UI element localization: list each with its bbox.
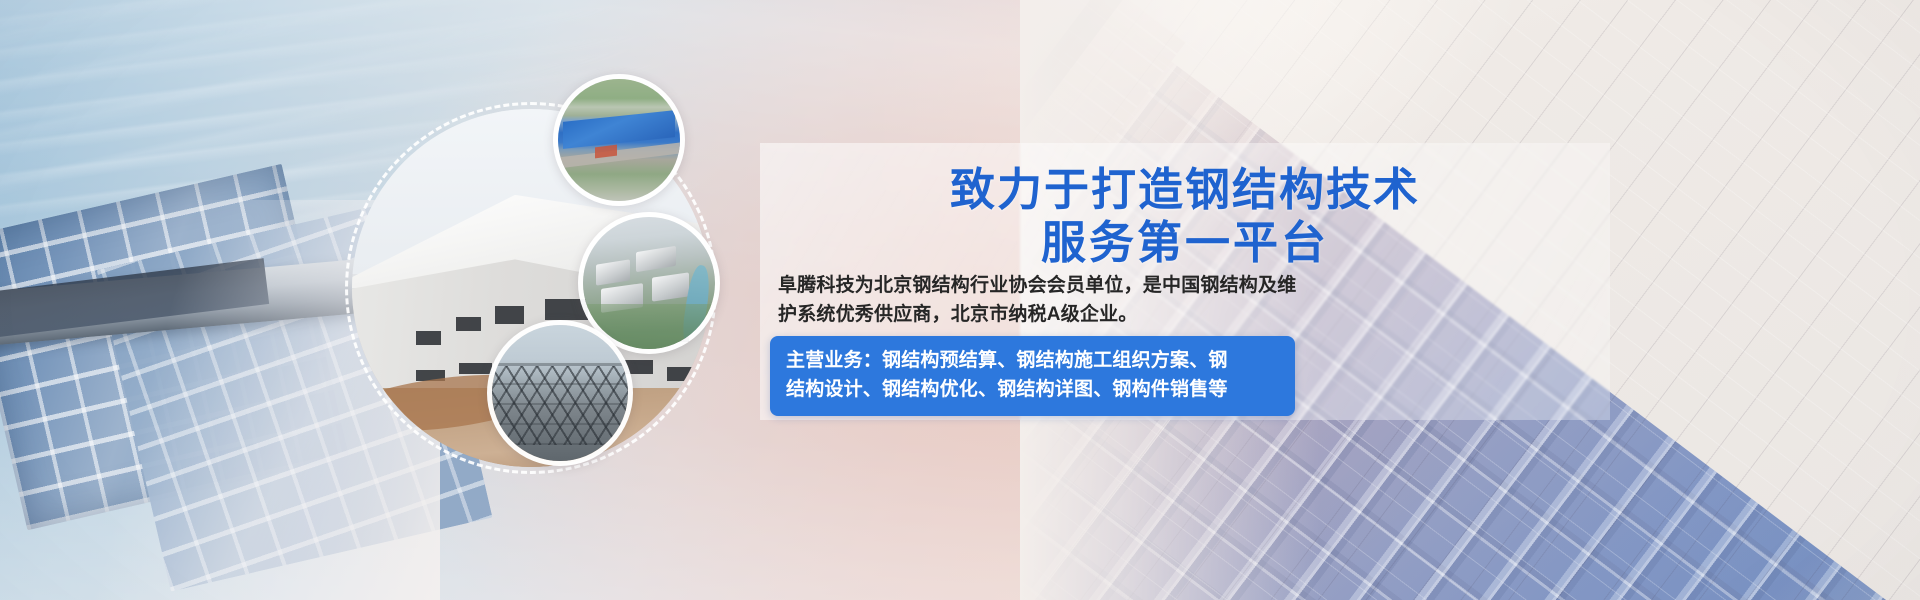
- thumb-photo-blue-roof-factory: [553, 74, 685, 206]
- hero-banner: 致力于打造钢结构技术 服务第一平台 阜腾科技为北京钢结构行业协会会员单位，是中国…: [0, 0, 1920, 600]
- photo-window: [495, 306, 524, 324]
- headline-line-1: 致力于打造钢结构技术: [760, 163, 1610, 216]
- business-scope-box: 主营业务：钢结构预结算、钢结构施工组织方案、钢 结构设计、钢结构优化、钢结构详图…: [770, 336, 1295, 416]
- paragraph-line-2: 护系统优秀供应商，北京市纳税A级企业。: [778, 300, 1308, 329]
- photo-window: [459, 363, 491, 374]
- photo-window: [456, 317, 481, 331]
- description-paragraph: 阜腾科技为北京钢结构行业协会会员单位，是中国钢结构及维 护系统优秀供应商，北京市…: [778, 271, 1308, 329]
- photo-window: [667, 367, 696, 381]
- business-line-2: 结构设计、钢结构优化、钢结构详图、钢构件销售等: [786, 375, 1279, 404]
- headline: 致力于打造钢结构技术 服务第一平台: [760, 163, 1610, 269]
- paragraph-line-1: 阜腾科技为北京钢结构行业协会会员单位，是中国钢结构及维: [778, 271, 1308, 300]
- photo-window: [416, 331, 441, 345]
- headline-line-2: 服务第一平台: [760, 216, 1610, 269]
- thumb-photo-steel-truss: [487, 320, 633, 466]
- business-line-1: 主营业务：钢结构预结算、钢结构施工组织方案、钢: [786, 346, 1279, 375]
- thumb-truss-lattice: [487, 366, 633, 445]
